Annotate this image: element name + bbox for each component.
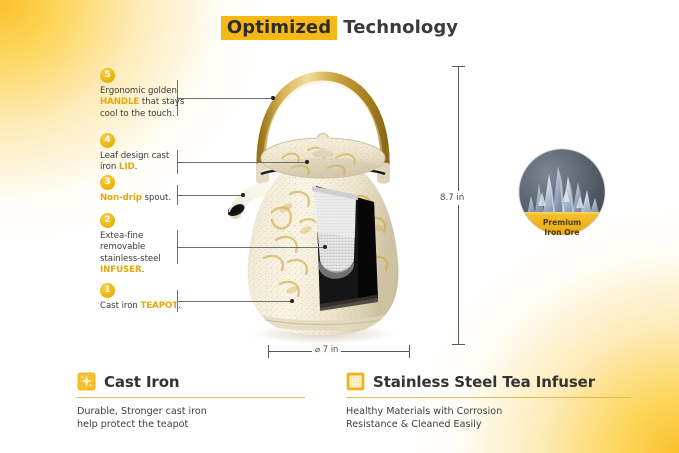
- callout-handle: 5 Ergonomic golden HANDLE that stays coo…: [100, 68, 196, 120]
- feature-cast-iron-rule: [77, 397, 305, 398]
- feature-infuser-title: Stainless Steel Tea Infuser: [373, 373, 595, 391]
- callout-badge-5: 5: [100, 68, 115, 83]
- callout-infuser: 2 Extea-fine removable stainless-steel I…: [100, 213, 196, 277]
- feature-infuser-desc: Healthy Materials with Corrosion Resista…: [346, 405, 631, 431]
- callout-line: iron LID.: [100, 162, 196, 173]
- product-infographic: OptimizedTechnology: [0, 0, 679, 453]
- callout-line: cool to the touch.: [100, 109, 196, 120]
- leader-line-2: [177, 247, 325, 248]
- callout-line: Cast iron TEAPOT.: [100, 301, 196, 312]
- callout-text-1: Cast iron TEAPOT.: [100, 301, 196, 312]
- feature-infuser-head: Stainless Steel Tea Infuser: [346, 372, 631, 391]
- height-dimension-cap-bottom: [452, 344, 465, 345]
- height-dimension-cap-top: [452, 66, 465, 67]
- leader-dot-1: [290, 299, 294, 303]
- mesh-grid-icon: [346, 372, 365, 391]
- leader-dot-2: [323, 245, 327, 249]
- feature-infuser-rule: [346, 397, 631, 398]
- callout-line: Leaf design cast: [100, 151, 196, 162]
- height-dimension-line: [458, 66, 459, 344]
- feature-desc-line: Resistance & Cleaned Easily: [346, 418, 631, 431]
- callout-text-3: Non-drip spout.: [100, 193, 196, 204]
- callout-line: INFUSER.: [100, 265, 196, 276]
- callout-line: Extea-fine: [100, 231, 196, 242]
- feature-desc-line: help protect the teapot: [77, 418, 305, 431]
- leader-dot-5: [271, 96, 275, 100]
- feature-cast-iron-head: Cast Iron: [77, 372, 305, 391]
- callout-badge-4: 4: [100, 133, 115, 148]
- callout-spout: 3 Non-drip spout.: [100, 175, 196, 204]
- width-dimension-label: ⌀ 7 in: [312, 344, 341, 354]
- callout-badge-3: 3: [100, 175, 115, 190]
- teapot-product-image: [228, 62, 418, 347]
- callout-lid: 4 Leaf design cast iron LID.: [100, 133, 196, 174]
- feature-cast-iron: Cast Iron Durable, Stronger cast iron he…: [77, 372, 305, 431]
- feature-infuser: Stainless Steel Tea Infuser Healthy Mate…: [346, 372, 631, 431]
- leader-dot-3: [241, 193, 245, 197]
- width-dimension-cap-left: [268, 345, 269, 358]
- callout-line: removable: [100, 242, 196, 253]
- page-title: OptimizedTechnology: [0, 16, 679, 40]
- feature-desc-line: Healthy Materials with Corrosion: [346, 405, 631, 418]
- premium-iron-ore-badge: [518, 148, 606, 236]
- callout-text-4: Leaf design cast iron LID.: [100, 151, 196, 174]
- sparkle-icon: [77, 372, 96, 391]
- callout-teapot: 1 Cast iron TEAPOT.: [100, 283, 196, 312]
- callout-badge-2: 2: [100, 213, 115, 228]
- callout-badge-1: 1: [100, 283, 115, 298]
- callout-line: Non-drip spout.: [100, 193, 196, 204]
- title-highlight: Optimized: [221, 16, 337, 40]
- callout-text-2: Extea-fine removable stainless-steel INF…: [100, 231, 196, 277]
- title-rest: Technology: [343, 17, 458, 38]
- height-dimension-label: 8.7 in: [438, 191, 466, 205]
- feature-desc-line: Durable, Stronger cast iron: [77, 405, 305, 418]
- feature-cast-iron-desc: Durable, Stronger cast iron help protect…: [77, 405, 305, 431]
- feature-cast-iron-title: Cast Iron: [104, 373, 180, 391]
- callout-text-5: Ergonomic golden HANDLE that stays cool …: [100, 86, 196, 120]
- callout-line: Ergonomic golden: [100, 86, 196, 97]
- leader-dot-4: [305, 160, 309, 164]
- width-dimension-cap-right: [409, 345, 410, 358]
- callout-line: HANDLE that stays: [100, 97, 196, 108]
- callout-line: stainless-steel: [100, 254, 196, 265]
- leader-line-4: [177, 162, 307, 163]
